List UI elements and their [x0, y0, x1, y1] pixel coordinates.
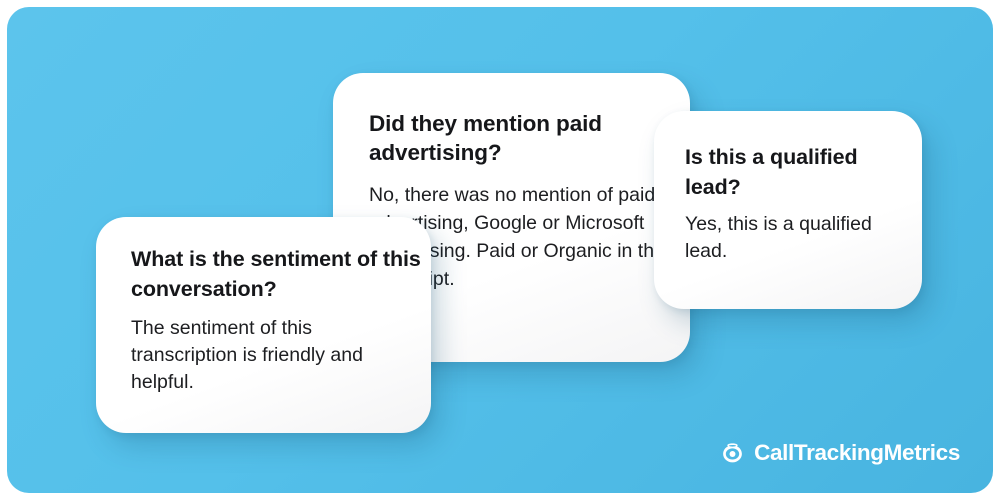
qa-card-sentiment[interactable]: What is the sentiment of this conversati… — [96, 217, 431, 433]
screenshot-canvas: Did they mention paid advertising? No, t… — [0, 0, 1000, 500]
qa-card-answer: Yes, this is a qualified lead. — [685, 211, 900, 265]
qa-card-question: What is the sentiment of this conversati… — [131, 244, 421, 304]
phone-dial-icon — [720, 441, 745, 466]
brand-wordmark: CallTrackingMetrics — [754, 442, 960, 465]
brand-logo: CallTrackingMetrics — [720, 441, 960, 466]
blue-background-panel: Did they mention paid advertising? No, t… — [7, 7, 993, 493]
qa-card-qualified-lead[interactable]: Is this a qualified lead? Yes, this is a… — [654, 111, 922, 309]
qa-card-question: Did they mention paid advertising? — [369, 109, 669, 167]
qa-card-question: Is this a qualified lead? — [685, 142, 900, 202]
qa-card-answer: The sentiment of this transcription is f… — [131, 315, 401, 396]
